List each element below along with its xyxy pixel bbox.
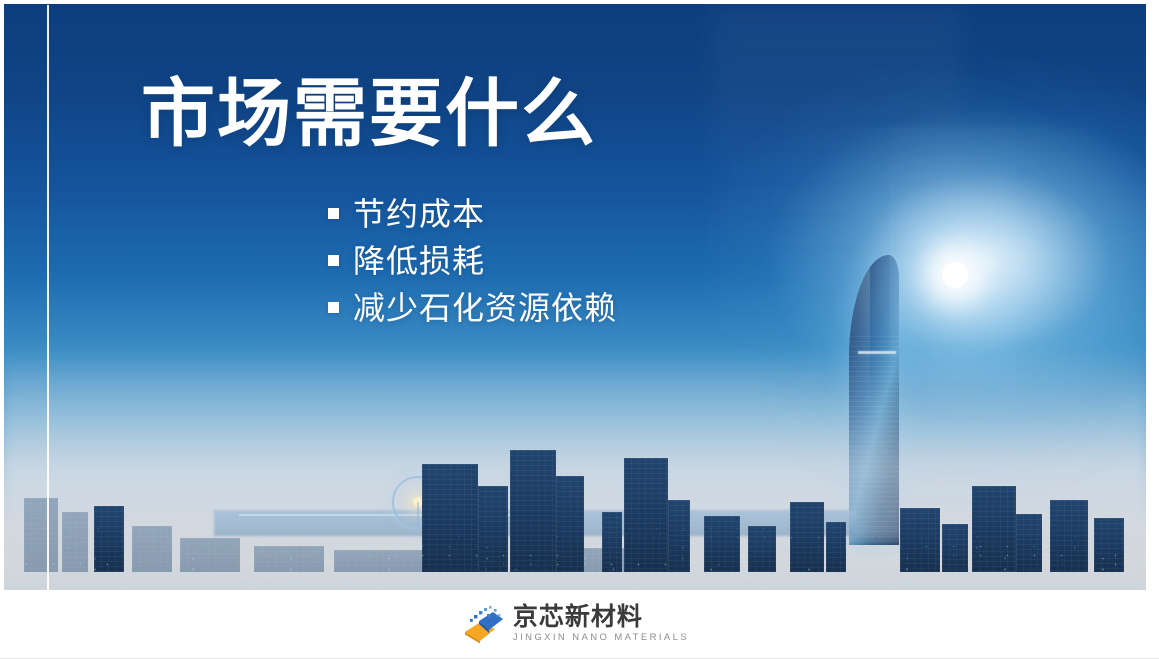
slide-footer: 京芯新材料 JINGXIN NANO MATERIALS [0,590,1159,659]
bullet-list: 节约成本 降低损耗 减少石化资源依赖 [328,190,617,331]
list-item: 节约成本 [328,190,617,237]
list-item-label: 降低损耗 [353,245,485,277]
presentation-slide: 市场需要什么 节约成本 降低损耗 减少石化资源依赖 [0,0,1159,659]
list-item-label: 节约成本 [353,198,485,230]
pixel-diamond-logo-icon [462,605,504,645]
logo-text-block: 京芯新材料 JINGXIN NANO MATERIALS [513,604,689,645]
logo-company-name-cn: 京芯新材料 [513,604,689,630]
list-item: 降低损耗 [328,237,617,284]
list-item-label: 减少石化资源依赖 [353,292,617,324]
company-logo: 京芯新材料 JINGXIN NANO MATERIALS [462,604,689,645]
list-item: 减少石化资源依赖 [328,284,617,331]
decorative-vertical-rule [47,5,49,590]
data-network-dots-overlay-secondary [4,520,1146,590]
square-bullet-icon [328,208,339,219]
logo-company-name-en: JINGXIN NANO MATERIALS [513,632,689,644]
page-title: 市场需要什么 [141,74,597,154]
square-bullet-icon [328,302,339,313]
city-skyline [4,390,1146,590]
sky-light-column [712,4,963,367]
square-bullet-icon [328,255,339,266]
sun-glare-icon [942,262,968,288]
